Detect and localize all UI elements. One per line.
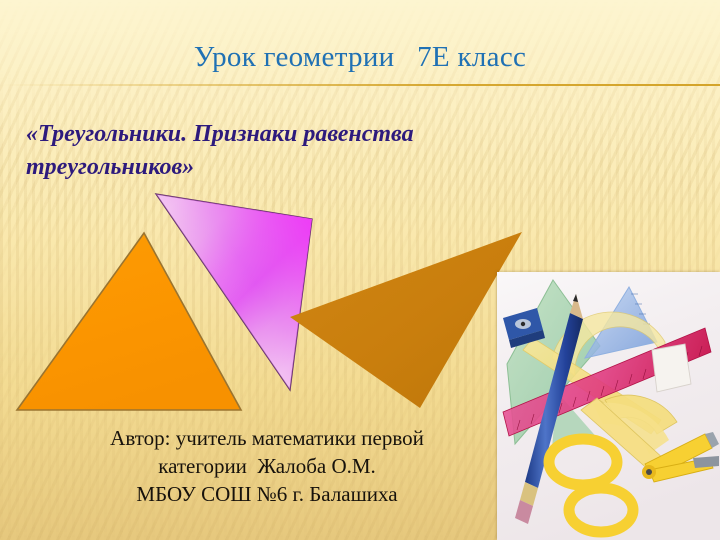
author-line-3: МБОУ СОШ №6 г. Балашиха (32, 480, 502, 508)
white-eraser-icon (652, 344, 691, 392)
author-block: Автор: учитель математики первой категор… (32, 424, 502, 508)
school-supplies-photo (497, 272, 720, 540)
slide-subtitle: «Треугольники. Признаки равенства треуго… (26, 118, 586, 184)
page-title: Урок геометрии 7Е класс (0, 40, 720, 74)
presentation-slide: Урок геометрии 7Е класс «Треугольники. П… (0, 0, 720, 540)
title-divider (0, 84, 720, 86)
ochre-triangle (290, 232, 522, 408)
author-line-1: Автор: учитель математики первой (32, 424, 502, 452)
author-line-2: категории Жалоба О.М. (32, 452, 502, 480)
